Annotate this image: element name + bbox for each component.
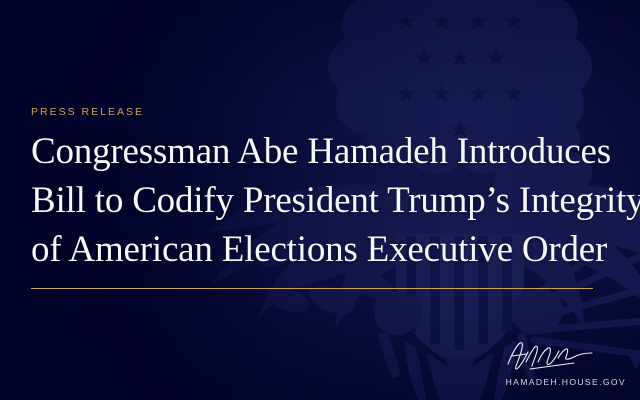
headline-line-1: Congressman Abe Hamadeh Introduces — [31, 127, 621, 176]
headline-line-3: of American Elections Executive Order — [31, 225, 621, 274]
banner-content: PRESS RELEASE Congressman Abe Hamadeh In… — [0, 0, 640, 400]
site-url-label: HAMADEH.HOUSE.GOV — [506, 377, 626, 387]
headline-line-2: Bill to Codify President Trump’s Integri… — [31, 176, 621, 225]
page-title: Congressman Abe Hamadeh Introduces Bill … — [31, 127, 621, 274]
gold-divider — [31, 288, 593, 289]
press-release-banner: PRESS RELEASE Congressman Abe Hamadeh In… — [0, 0, 640, 400]
press-release-eyebrow: PRESS RELEASE — [31, 106, 144, 118]
signature-mark — [500, 338, 596, 374]
